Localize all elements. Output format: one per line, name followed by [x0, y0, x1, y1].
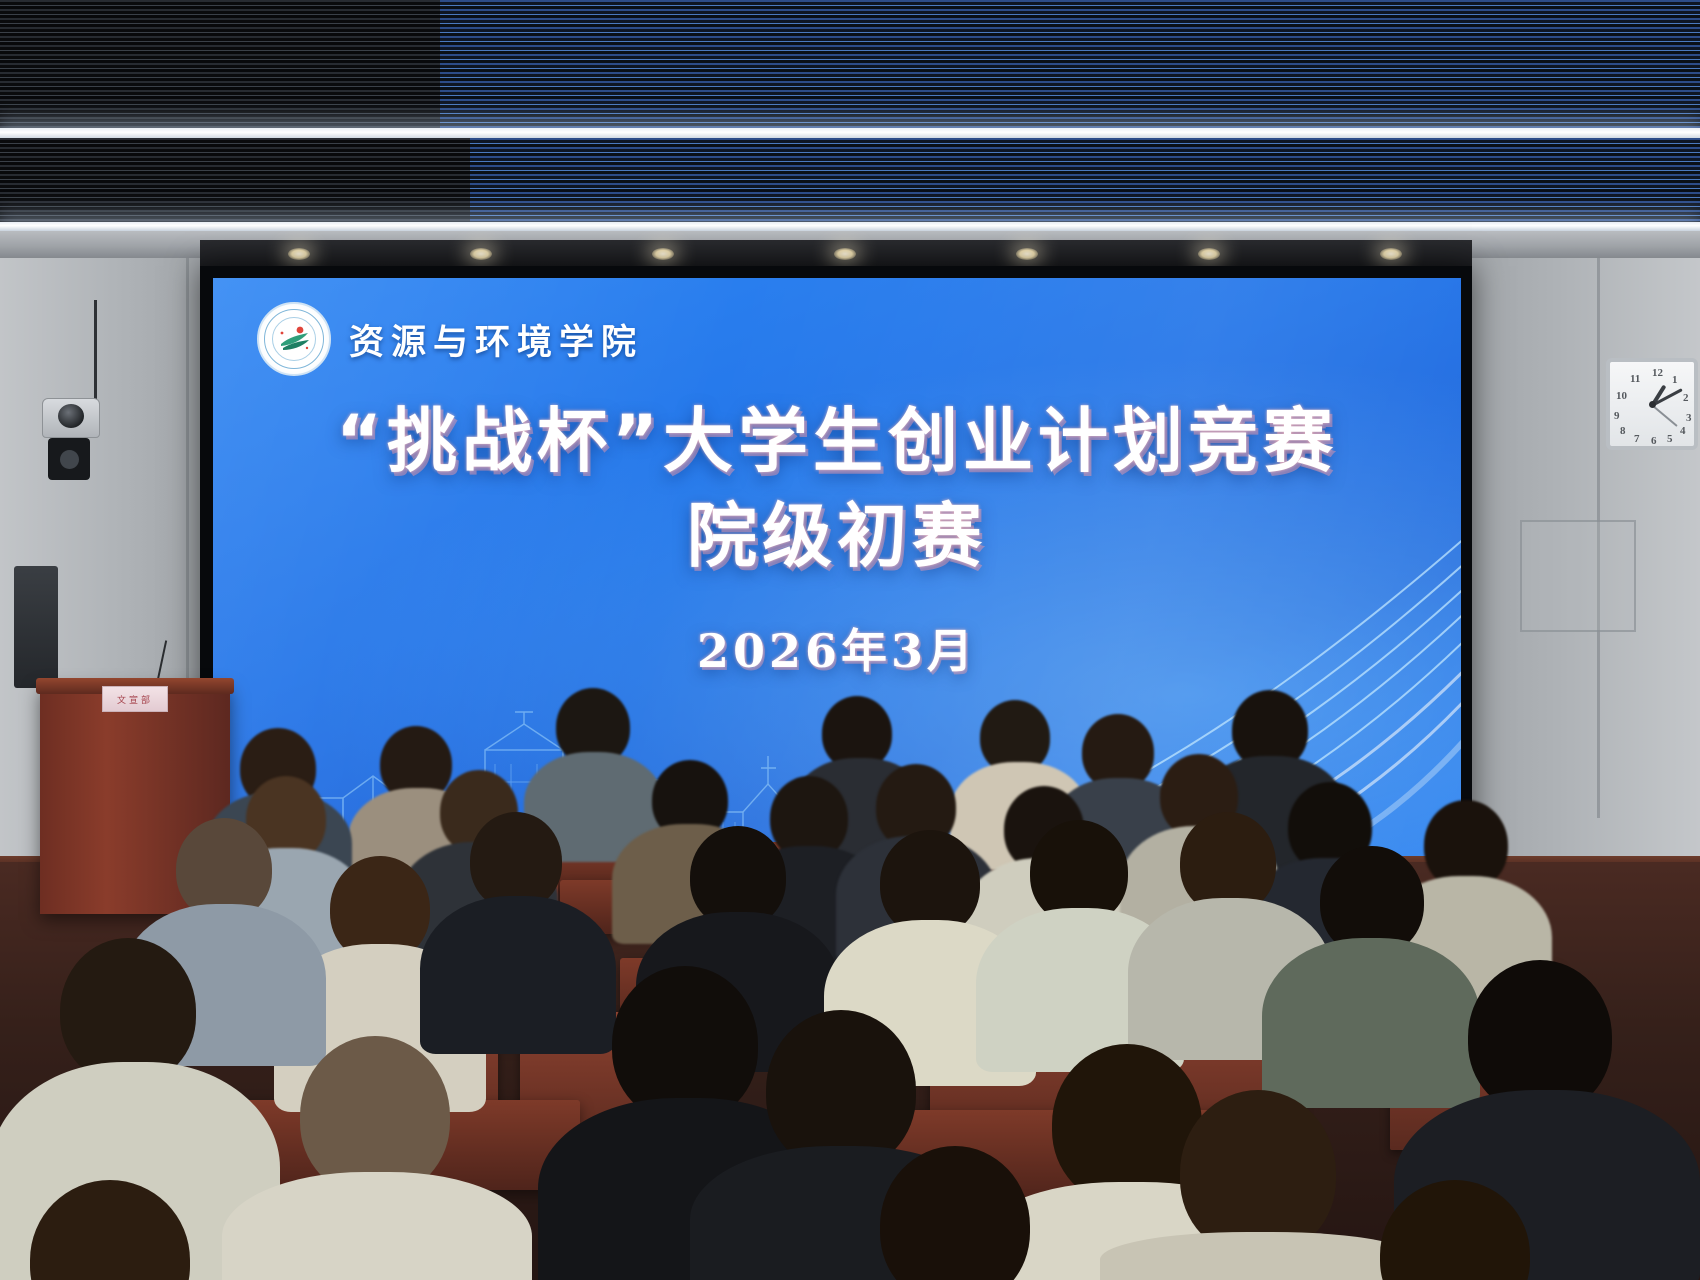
recessed-downlight	[288, 248, 310, 260]
camera-wall-bracket	[48, 438, 90, 480]
recessed-downlight	[1380, 248, 1402, 260]
screen-date: 2026年3月	[243, 615, 1431, 681]
screen-org-name: 资源与环境学院	[349, 314, 643, 365]
emblem-mark-icon	[277, 324, 311, 354]
clock-numeral: 2	[1683, 392, 1689, 404]
screen-header: 资源与环境学院	[257, 302, 643, 376]
clock-numeral: 12	[1652, 367, 1663, 379]
ceiling-slat-blue-right-2	[470, 138, 1700, 222]
recessed-downlight	[652, 248, 674, 260]
clock-second-hand	[1652, 404, 1678, 426]
podium-name-sign: 文宣部	[102, 686, 168, 712]
wall-equipment-box	[14, 566, 58, 688]
auditorium-scene: 12 1 2 3 4 5 6 7 8 9 10 11	[0, 0, 1700, 1280]
clock-numeral: 3	[1686, 412, 1692, 424]
ceiling-slat-blue-right	[440, 0, 1700, 128]
clock-numeral: 8	[1620, 425, 1626, 437]
clock-numeral: 11	[1630, 373, 1640, 385]
clock-numeral: 7	[1634, 433, 1640, 445]
clock-numeral: 10	[1616, 390, 1627, 402]
slatted-ceiling-panels	[0, 0, 1700, 258]
person-body	[1262, 938, 1480, 1108]
wall-access-panel	[1520, 520, 1636, 632]
clock-numeral: 4	[1680, 425, 1686, 437]
university-emblem	[257, 302, 331, 376]
camera-lens-icon	[58, 404, 84, 428]
clock-numeral: 1	[1672, 374, 1678, 386]
ceiling-light-strip-2	[0, 222, 1700, 231]
clock-numeral: 6	[1651, 435, 1657, 447]
screen-title-line-2: 院级初赛	[243, 495, 1431, 578]
clock-numeral: 5	[1667, 433, 1673, 445]
clock-center-pin	[1649, 401, 1656, 408]
wall-clock: 12 1 2 3 4 5 6 7 8 9 10 11	[1606, 358, 1698, 450]
clock-face: 12 1 2 3 4 5 6 7 8 9 10 11	[1610, 362, 1694, 446]
screen-title-block: “挑战杯”大学生创业计划竞赛 院级初赛 2026年3月	[213, 400, 1461, 681]
ceiling-slat-dark-left-2	[0, 138, 470, 222]
ceiling-slat-dark-left	[0, 0, 440, 128]
recessed-downlight	[470, 248, 492, 260]
screen-title: “挑战杯”大学生创业计划竞赛 院级初赛	[243, 400, 1431, 577]
podium-sign-text: 文宣部	[117, 693, 153, 706]
person-body	[1100, 1232, 1420, 1280]
person-body	[222, 1172, 532, 1280]
clock-numeral: 9	[1614, 410, 1620, 422]
recessed-downlight	[1198, 248, 1220, 260]
person-body	[420, 896, 616, 1054]
recessed-downlight	[1016, 248, 1038, 260]
screen-title-line-1: “挑战杯”大学生创业计划竞赛	[336, 400, 1338, 482]
recessed-downlight	[834, 248, 856, 260]
